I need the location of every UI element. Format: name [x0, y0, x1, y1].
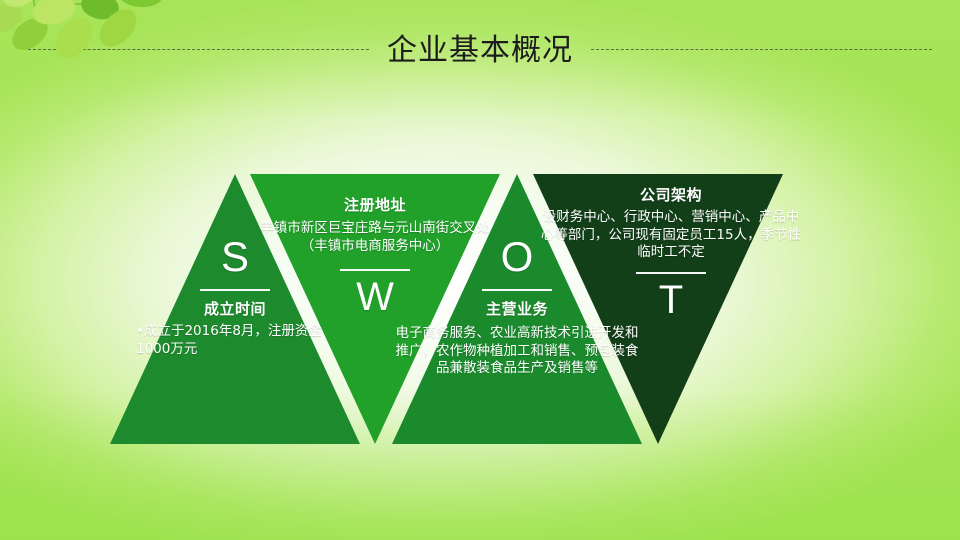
header-rule-right [591, 49, 932, 50]
slide-header: 企业基本概况 [0, 22, 960, 72]
swot-letter-t: T [540, 280, 802, 320]
swot-divider-w [340, 269, 410, 271]
swot-content-t: 公司架构 设财务中心、行政中心、营销中心、产品中心等部门，公司现有固定员工15人… [540, 186, 802, 320]
swot-caption-t: 公司架构 [540, 186, 802, 205]
swot-diagram: S 成立时间 •成立于2016年8月，注册资金1000万元 注册地址 丰镇市新区… [0, 0, 960, 540]
swot-divider-t [636, 272, 706, 274]
header-rule-left [28, 49, 369, 50]
page-title: 企业基本概况 [369, 25, 591, 69]
slide-canvas: 企业基本概况 S 成立时间 •成立于2016年8月，注册资金1000万元 注册地… [0, 0, 960, 540]
swot-caption-w: 注册地址 [250, 196, 500, 215]
swot-body-s: •成立于2016年8月，注册资金1000万元 [120, 323, 350, 359]
swot-body-o: 电子商务服务、农业高新技术引进开发和推广，农作物种植加工和销售、预包装食品兼散装… [391, 325, 643, 378]
swot-body-t: 设财务中心、行政中心、营销中心、产品中心等部门，公司现有固定员工15人，季节性临… [540, 209, 802, 262]
